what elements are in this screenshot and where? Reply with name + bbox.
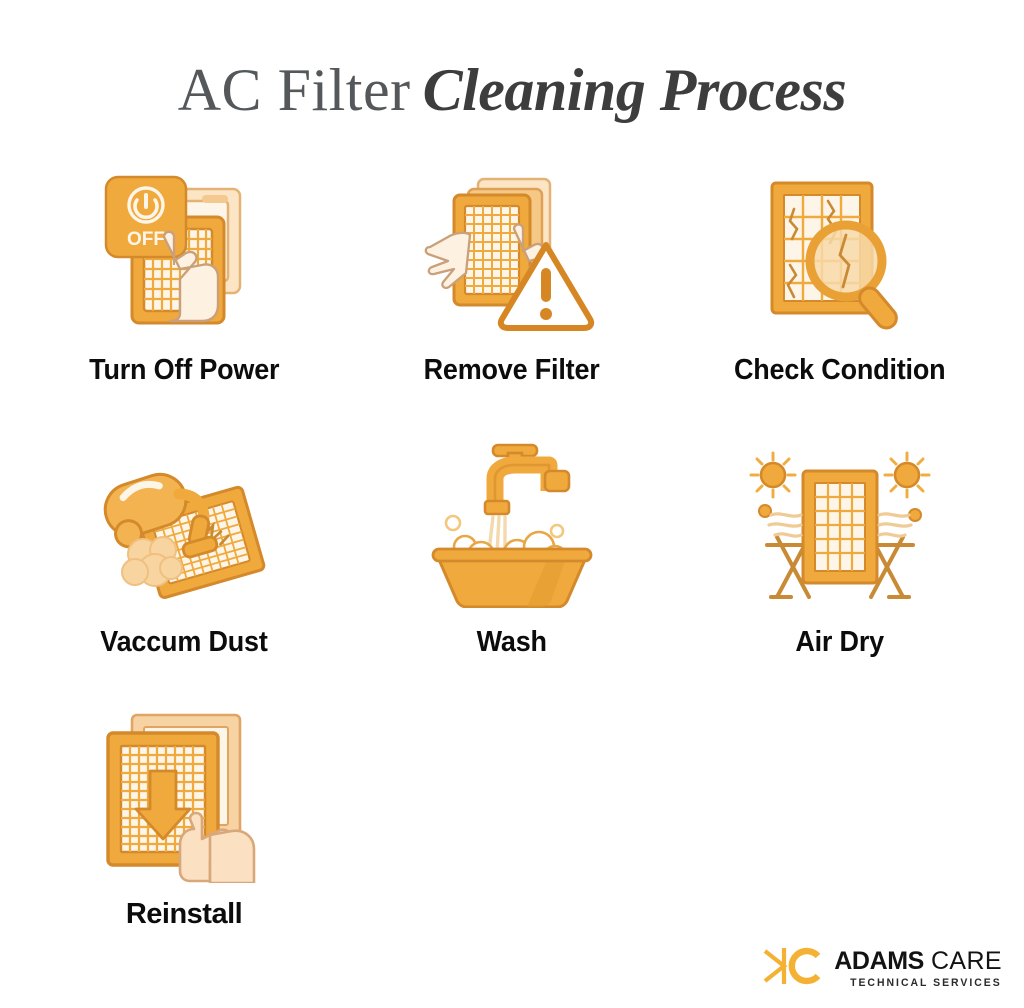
step-label-2: Remove Filter (424, 354, 600, 387)
logo-tagline: TECHNICAL SERVICES (843, 978, 1002, 989)
brand-logo: ADAMS CARE TECHNICAL SERVICES (762, 945, 1002, 992)
step-label-5: Wash (477, 626, 547, 659)
logo-name-bold: ADAMS (834, 949, 924, 974)
page-title: AC FilterCleaning Process (0, 56, 1024, 125)
step-label-1: Turn Off Power (89, 354, 279, 387)
infographic-poster: AC FilterCleaning Process (0, 0, 1024, 1008)
faucet-basin-wash-icon (412, 440, 612, 610)
inspect-filter-icon (740, 168, 940, 338)
svg-text:OFF: OFF (127, 229, 165, 250)
step-label-3: Check Condition (734, 354, 945, 387)
page-title-bold: Cleaning Process (423, 57, 847, 123)
power-off-filter-icon: OFF (84, 168, 284, 338)
step-label-6: Air Dry (796, 626, 885, 659)
vacuum-filter-icon (84, 440, 284, 610)
page-title-light: AC Filter (178, 57, 411, 123)
steps-grid: OFF Turn Off Power (20, 168, 1004, 984)
step-item-1: OFF Turn Off Power (20, 168, 348, 440)
step-item-3: Check Condition (676, 168, 1004, 440)
step-label-7: Reinstall (126, 898, 242, 931)
step-item-2: Remove Filter (348, 168, 676, 440)
reinstall-filter-icon (84, 712, 284, 882)
air-dry-rack-icon (740, 440, 940, 610)
step-item-4: Vaccum Dust (20, 440, 348, 712)
ac-monogram-icon (762, 945, 824, 992)
step-item-6: Air Dry (676, 440, 1004, 712)
step-label-4: Vaccum Dust (100, 626, 267, 659)
step-item-7: Reinstall (20, 712, 348, 931)
logo-name-light: CARE (931, 949, 1002, 974)
step-item-5: Wash (348, 440, 676, 712)
logo-text: ADAMS CARE TECHNICAL SERVICES (834, 949, 1002, 989)
remove-filter-icon (412, 168, 612, 338)
